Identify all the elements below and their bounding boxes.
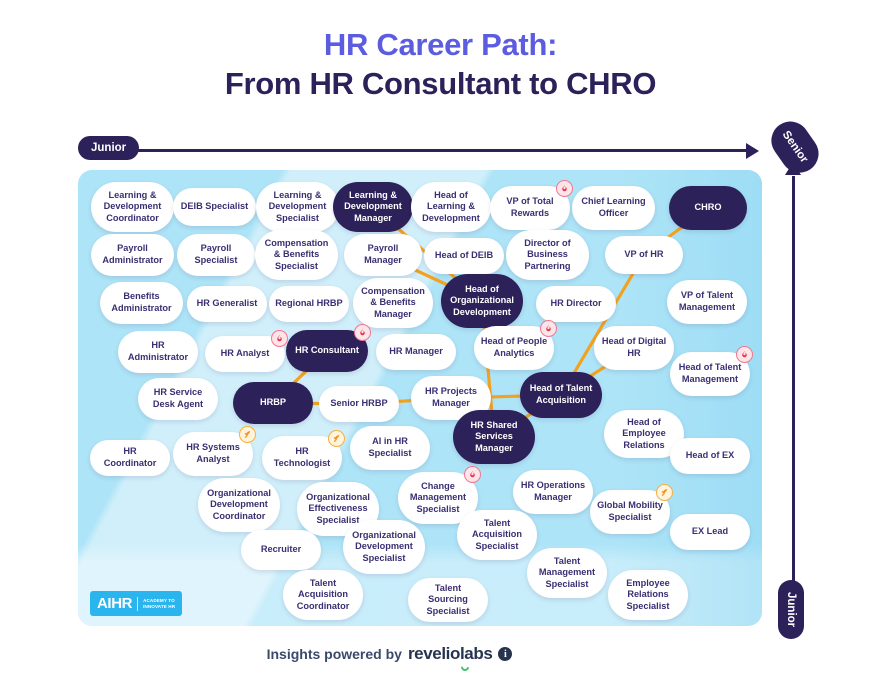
node-head-of-ex[interactable]: Head of EX bbox=[670, 438, 750, 474]
brand-labs: labs bbox=[460, 644, 492, 663]
node-label: DEIB Specialist bbox=[181, 201, 248, 213]
page-root: HR Career Path: From HR Consultant to CH… bbox=[0, 0, 881, 680]
node-benefits-administrator[interactable]: Benefits Administrator bbox=[100, 282, 183, 324]
node-regional-hrbp[interactable]: Regional HRBP bbox=[269, 286, 349, 322]
node-label: Learning & Development Manager bbox=[339, 190, 407, 225]
node-hr-service-desk-agent[interactable]: HR Service Desk Agent bbox=[138, 378, 218, 420]
node-label: Head of Learning & Development bbox=[417, 190, 485, 225]
flame-icon bbox=[271, 330, 288, 347]
node-ld-specialist[interactable]: Learning & Development Specialist bbox=[256, 182, 339, 232]
node-label: Head of Organizational Development bbox=[447, 284, 517, 319]
node-payroll-administrator[interactable]: Payroll Administrator bbox=[91, 234, 174, 276]
rocket-icon bbox=[328, 430, 345, 447]
node-vp-of-hr[interactable]: VP of HR bbox=[605, 236, 683, 274]
node-hrbp[interactable]: HRBP bbox=[233, 382, 313, 424]
node-label: HRBP bbox=[260, 397, 286, 409]
node-org-development-coordinator[interactable]: Organizational Development Coordinator bbox=[198, 478, 280, 532]
aihr-logo-divider bbox=[137, 597, 138, 611]
node-payroll-specialist[interactable]: Payroll Specialist bbox=[177, 234, 255, 276]
node-hr-director[interactable]: HR Director bbox=[536, 286, 616, 322]
node-label: HR Manager bbox=[389, 346, 443, 358]
node-org-development-specialist[interactable]: Organizational Development Specialist bbox=[343, 520, 425, 574]
flame-icon bbox=[556, 180, 573, 197]
node-label: VP of Total Rewards bbox=[496, 196, 564, 219]
node-head-of-deib[interactable]: Head of DEIB bbox=[424, 238, 504, 274]
node-label: Compensation & Benefits Specialist bbox=[261, 238, 332, 273]
node-payroll-manager[interactable]: Payroll Manager bbox=[344, 234, 422, 276]
node-label: Organizational Development Coordinator bbox=[204, 488, 274, 523]
node-head-org-development[interactable]: Head of Organizational Development bbox=[441, 274, 523, 328]
node-hr-coordinator[interactable]: HR Coordinator bbox=[90, 440, 170, 476]
node-ex-lead[interactable]: EX Lead bbox=[670, 514, 750, 550]
node-label: HR Administrator bbox=[124, 340, 192, 363]
node-label: Chief Learning Officer bbox=[578, 196, 649, 219]
career-map-board: Learning & Development CoordinatorDEIB S… bbox=[78, 170, 762, 626]
node-label: HR Analyst bbox=[221, 348, 270, 360]
flame-icon bbox=[354, 324, 371, 341]
node-label: HR Systems Analyst bbox=[179, 442, 247, 465]
node-employee-relations-specialist[interactable]: Employee Relations Specialist bbox=[608, 570, 688, 620]
node-label: HR Director bbox=[550, 298, 601, 310]
title-line-1: HR Career Path: bbox=[0, 26, 881, 64]
footer-attribution: Insights powered by reveliolabs i bbox=[0, 644, 881, 664]
axis-arrow-right-icon bbox=[746, 143, 759, 159]
axis-line-vertical bbox=[792, 176, 795, 586]
node-vp-talent-management[interactable]: VP of Talent Management bbox=[667, 280, 747, 324]
node-hr-administrator[interactable]: HR Administrator bbox=[118, 331, 198, 373]
node-label: HR Consultant bbox=[295, 345, 359, 357]
aihr-tagline-line-1: ACADEMY TO bbox=[143, 598, 175, 604]
aihr-logo: AIHR ACADEMY TO INNOVATE HR bbox=[90, 591, 182, 616]
info-icon: i bbox=[498, 647, 512, 661]
node-label: HR Shared Services Manager bbox=[459, 420, 529, 455]
node-label: HR Generalist bbox=[197, 298, 258, 310]
seniority-axis-horizontal: Junior Senior bbox=[78, 134, 778, 168]
node-label: Head of People Analytics bbox=[480, 336, 548, 359]
node-label: AI in HR Specialist bbox=[356, 436, 424, 459]
node-label: Talent Acquisition Coordinator bbox=[289, 578, 357, 613]
node-hr-generalist[interactable]: HR Generalist bbox=[187, 286, 267, 322]
brand-revelio: revelio bbox=[408, 644, 460, 663]
node-label: Payroll Manager bbox=[350, 243, 416, 266]
node-label: Employee Relations Specialist bbox=[614, 578, 682, 613]
node-hr-shared-services-manager[interactable]: HR Shared Services Manager bbox=[453, 410, 535, 464]
node-label: HR Coordinator bbox=[96, 446, 164, 469]
node-label: Learning & Development Specialist bbox=[262, 190, 333, 225]
node-talent-acquisition-specialist[interactable]: Talent Acquisition Specialist bbox=[457, 510, 537, 560]
node-label: Regional HRBP bbox=[275, 298, 342, 310]
node-label: Recruiter bbox=[261, 544, 301, 556]
node-label: Head of DEIB bbox=[435, 250, 493, 262]
node-label: Talent Sourcing Specialist bbox=[414, 583, 482, 618]
title-line-2: From HR Consultant to CHRO bbox=[0, 64, 881, 104]
node-head-talent-acquisition[interactable]: Head of Talent Acquisition bbox=[520, 372, 602, 418]
node-head-digital-hr[interactable]: Head of Digital HR bbox=[594, 326, 674, 370]
node-label: Head of Talent Acquisition bbox=[526, 383, 596, 406]
node-label: Payroll Administrator bbox=[97, 243, 168, 266]
node-talent-acq-coordinator[interactable]: Talent Acquisition Coordinator bbox=[283, 570, 363, 620]
node-label: HR Projects Manager bbox=[417, 386, 485, 409]
node-label: Talent Acquisition Specialist bbox=[463, 518, 531, 553]
axis-label-junior-vertical: Junior bbox=[778, 580, 804, 639]
flame-icon bbox=[736, 346, 753, 363]
node-hr-manager[interactable]: HR Manager bbox=[376, 334, 456, 370]
node-label: Learning & Development Coordinator bbox=[97, 190, 168, 225]
node-label: Change Management Specialist bbox=[404, 481, 472, 516]
node-label: Head of Talent Management bbox=[676, 362, 744, 385]
node-label: VP of HR bbox=[624, 249, 663, 261]
node-label: Head of EX bbox=[686, 450, 735, 462]
page-title: HR Career Path: From HR Consultant to CH… bbox=[0, 26, 881, 104]
node-label: HR Service Desk Agent bbox=[144, 387, 212, 410]
node-talent-sourcing-specialist[interactable]: Talent Sourcing Specialist bbox=[408, 578, 488, 622]
axis-line-horizontal bbox=[134, 149, 749, 152]
node-senior-hrbp[interactable]: Senior HRBP bbox=[319, 386, 399, 422]
node-comp-benefits-manager[interactable]: Compensation & Benefits Manager bbox=[353, 278, 433, 328]
node-talent-management-specialist[interactable]: Talent Management Specialist bbox=[527, 548, 607, 598]
axis-arrow-up-icon bbox=[785, 162, 801, 175]
node-deib-specialist[interactable]: DEIB Specialist bbox=[173, 188, 256, 226]
aihr-logo-name: AIHR bbox=[97, 595, 132, 612]
node-label: VP of Talent Management bbox=[673, 290, 741, 313]
node-comp-benefits-specialist[interactable]: Compensation & Benefits Specialist bbox=[255, 230, 338, 280]
node-chro[interactable]: CHRO bbox=[669, 186, 747, 230]
node-label: Senior HRBP bbox=[330, 398, 387, 410]
flame-icon bbox=[540, 320, 557, 337]
flame-icon bbox=[464, 466, 481, 483]
node-label: Payroll Specialist bbox=[183, 243, 249, 266]
rocket-icon bbox=[239, 426, 256, 443]
node-label: Head of Digital HR bbox=[600, 336, 668, 359]
node-label: Benefits Administrator bbox=[106, 291, 177, 314]
node-ai-in-hr-specialist[interactable]: AI in HR Specialist bbox=[350, 426, 430, 470]
node-label: Global Mobility Specialist bbox=[596, 500, 664, 523]
node-hr-operations-manager[interactable]: HR Operations Manager bbox=[513, 470, 593, 514]
node-label: HR Technologist bbox=[268, 446, 336, 469]
node-head-of-ld[interactable]: Head of Learning & Development bbox=[411, 182, 491, 232]
aihr-logo-tagline: ACADEMY TO INNOVATE HR bbox=[143, 598, 175, 610]
node-label: HR Operations Manager bbox=[519, 480, 587, 503]
axis-label-junior-horizontal: Junior bbox=[78, 136, 139, 160]
node-director-business-partnering[interactable]: Director of Business Partnering bbox=[506, 230, 589, 280]
node-label: Talent Management Specialist bbox=[533, 556, 601, 591]
node-label: Director of Business Partnering bbox=[512, 238, 583, 273]
node-label: Head of Employee Relations bbox=[610, 417, 678, 452]
seniority-axis-vertical: Junior bbox=[780, 160, 820, 630]
node-ld-coordinator[interactable]: Learning & Development Coordinator bbox=[91, 182, 174, 232]
node-label: CHRO bbox=[694, 202, 721, 214]
node-chief-learning-officer[interactable]: Chief Learning Officer bbox=[572, 186, 655, 230]
revelio-labs-brand: reveliolabs bbox=[408, 644, 492, 664]
rocket-icon bbox=[656, 484, 673, 501]
node-label: Organizational Development Specialist bbox=[349, 530, 419, 565]
node-ld-manager[interactable]: Learning & Development Manager bbox=[333, 182, 413, 232]
node-label: Compensation & Benefits Manager bbox=[359, 286, 427, 321]
aihr-tagline-line-2: INNOVATE HR bbox=[143, 604, 175, 610]
footer-text: Insights powered by bbox=[267, 646, 402, 662]
node-recruiter[interactable]: Recruiter bbox=[241, 530, 321, 570]
node-label: EX Lead bbox=[692, 526, 728, 538]
